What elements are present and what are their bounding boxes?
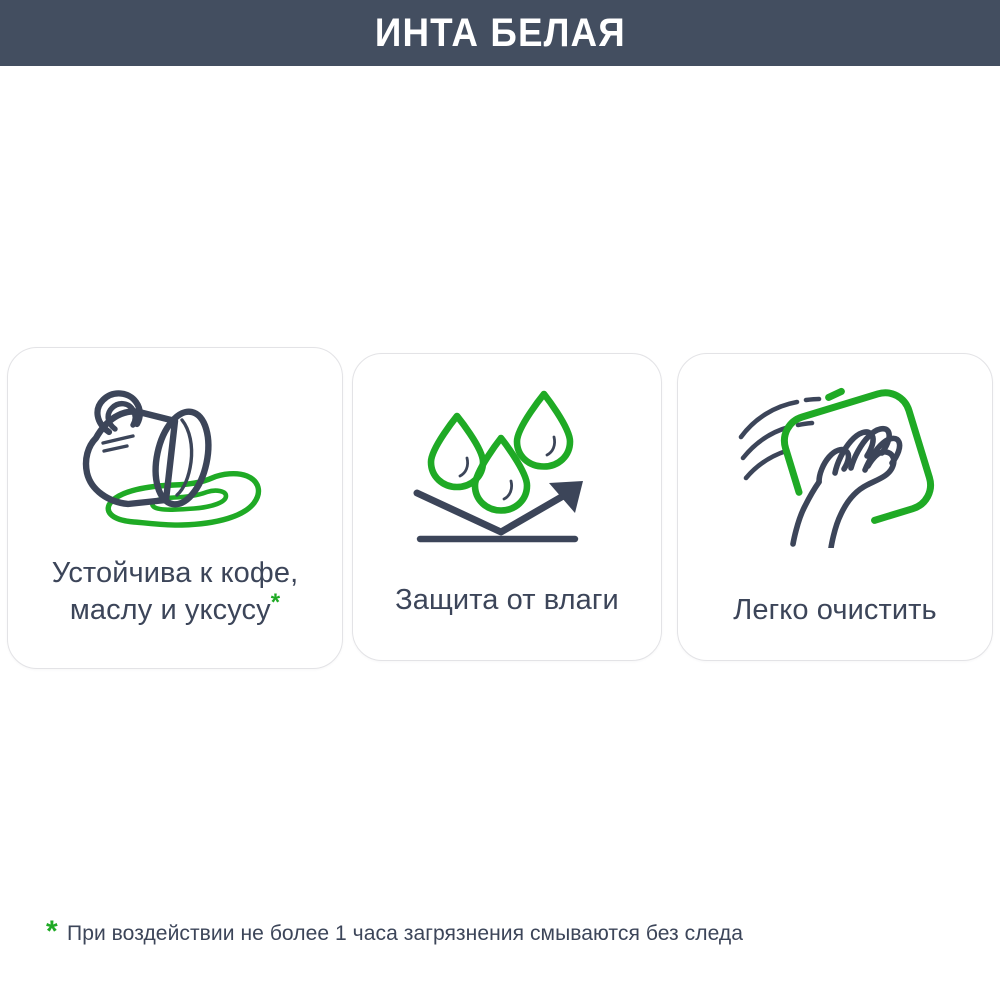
feature-card-label: Устойчива к кофе, маслу и уксусу* (18, 555, 332, 629)
feature-cards-row: Устойчива к кофе, маслу и уксусу* (0, 345, 1000, 675)
page-title: ИНТА БЕЛАЯ (375, 13, 626, 53)
feature-card-label: Защита от влаги (362, 582, 652, 619)
footnote-text: При воздействии не более 1 часа загрязне… (67, 918, 743, 948)
water-droplets-repel-icon (409, 382, 605, 544)
footnote-asterisk-icon: * (46, 918, 58, 946)
feature-label-line-1: Устойчива к кофе, (52, 557, 298, 589)
feature-card-label: Легко очистить (687, 592, 982, 629)
feature-card-easy-to-clean[interactable]: Легко очистить (677, 353, 993, 661)
spilled-mug-icon (70, 386, 280, 531)
header-bar: ИНТА БЕЛАЯ (0, 0, 1000, 66)
hand-wiping-cloth-icon (731, 378, 939, 548)
feature-card-stain-resistance[interactable]: Устойчива к кофе, маслу и уксусу* (7, 347, 343, 669)
footnote-marker-icon: * (271, 589, 280, 616)
feature-card-moisture-protection[interactable]: Защита от влаги (352, 353, 662, 661)
footnote: * При воздействии не более 1 часа загряз… (46, 918, 756, 948)
feature-label-line-2: маслу и уксусу (70, 594, 271, 626)
